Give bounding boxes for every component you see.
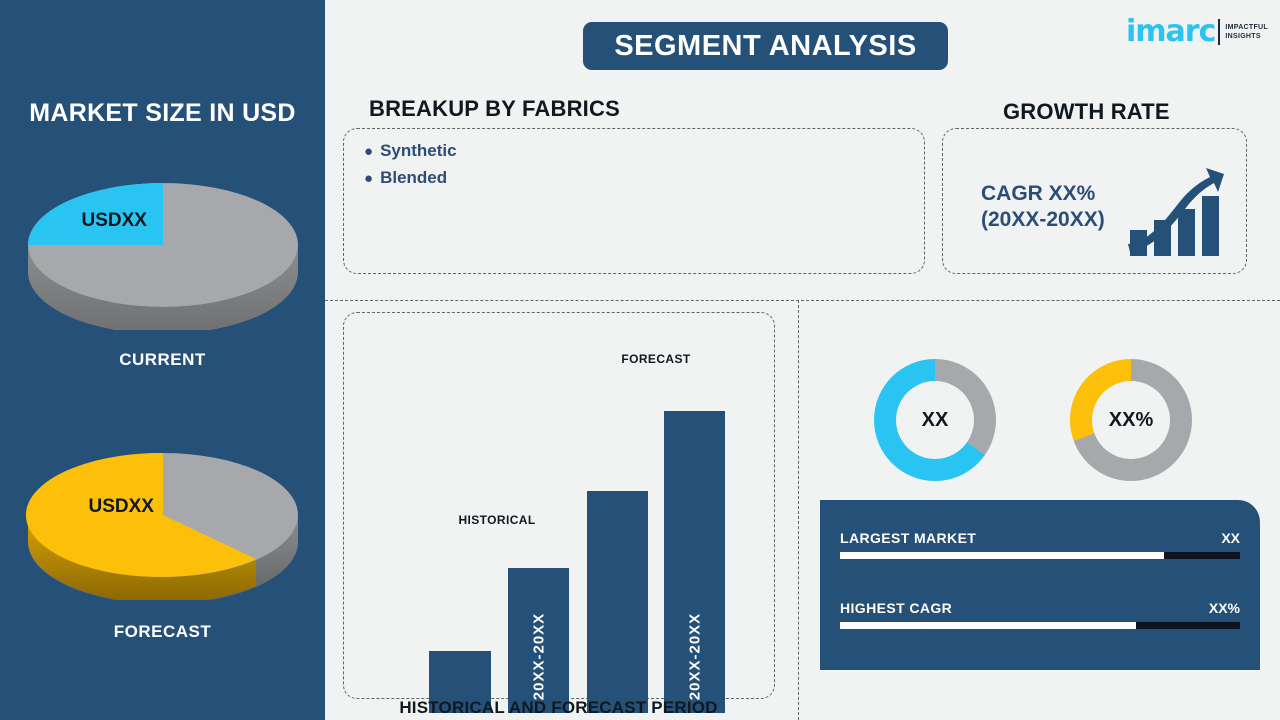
growth-box: CAGR XX% (20XX-20XX) <box>942 128 1247 274</box>
bar-annotation-historical: HISTORICAL <box>457 513 537 527</box>
fabrics-box: ● Synthetic ● Blended <box>343 128 925 274</box>
bar-4: 20XX-20XX <box>664 411 725 713</box>
stat-progress-track <box>840 552 1240 559</box>
bullet-icon: ● <box>364 171 373 186</box>
stat-value: XX% <box>1209 600 1240 616</box>
fabric-label: Synthetic <box>380 141 457 161</box>
stat-progress-track <box>840 622 1240 629</box>
bar-4-label: 20XX-20XX <box>686 613 703 700</box>
horizontal-divider <box>325 300 1280 301</box>
stat-label: LARGEST MARKET <box>840 530 976 546</box>
bar-2-label: 20XX-20XX <box>530 613 547 700</box>
pie-current-svg <box>18 160 308 330</box>
donut-chart-largest-share: XX <box>874 359 996 481</box>
pie-current-caption: CURRENT <box>0 350 325 370</box>
donut-1-center: XX <box>896 381 974 459</box>
page-title-banner: SEGMENT ANALYSIS <box>583 22 948 70</box>
cagr-value: CAGR XX% <box>981 181 1105 207</box>
growth-heading: GROWTH RATE <box>1003 99 1170 125</box>
logo-tagline-line1: IMPACTFUL <box>1225 23 1268 32</box>
bullet-icon: ● <box>364 144 373 159</box>
page-title: SEGMENT ANALYSIS <box>614 30 916 63</box>
donut-chart-highest-cagr: XX% <box>1070 359 1192 481</box>
pie-forecast-svg <box>18 430 308 600</box>
donut-2-center: XX% <box>1092 381 1170 459</box>
bar-3 <box>587 491 648 713</box>
cagr-text: CAGR XX% (20XX-20XX) <box>981 181 1105 234</box>
sidebar-title: MARKET SIZE IN USD <box>0 99 325 128</box>
logo-divider <box>1218 19 1220 45</box>
list-item: ● Synthetic <box>364 141 457 161</box>
logo-tagline-line2: INSIGHTS <box>1225 32 1268 41</box>
pie-chart-current: USDXX <box>18 160 308 330</box>
stat-label: HIGHEST CAGR <box>840 600 952 616</box>
fabrics-list: ● Synthetic ● Blended <box>364 141 457 195</box>
infographic-root: MARKET SIZE IN USD USDXX <box>0 0 1280 720</box>
bar-annotation-forecast: FORECAST <box>611 352 701 366</box>
market-size-current-block: USDXX CURRENT <box>0 160 325 330</box>
stat-progress-fill <box>840 552 1164 559</box>
bar-chart: HISTORICAL FORECAST 20XX-20XX 20XX-20XX <box>364 328 789 713</box>
imarc-logo: imarc IMPACTFUL INSIGHTS <box>1126 10 1268 54</box>
market-size-forecast-block: USDXX FORECAST <box>0 430 325 600</box>
list-item: ● Blended <box>364 168 457 188</box>
pie-forecast-caption: FORECAST <box>0 622 325 642</box>
donut-2-value: XX% <box>1109 409 1153 432</box>
vertical-divider <box>798 300 799 720</box>
stat-progress-fill <box>840 622 1136 629</box>
stat-value: XX <box>1221 530 1240 546</box>
fabric-label: Blended <box>380 168 447 188</box>
stats-card: LARGEST MARKET XX HIGHEST CAGR XX% <box>820 500 1260 670</box>
growth-arrow-chart-icon <box>1126 164 1226 259</box>
pie-chart-forecast: USDXX <box>18 430 308 600</box>
donut-1-value: XX <box>922 409 949 432</box>
fabrics-heading: BREAKUP BY FABRICS <box>369 96 620 122</box>
sidebar: MARKET SIZE IN USD USDXX <box>0 0 325 720</box>
main-panel: SEGMENT ANALYSIS imarc IMPACTFUL INSIGHT… <box>325 0 1280 720</box>
logo-tagline: IMPACTFUL INSIGHTS <box>1225 23 1268 42</box>
period-bar-chart-box: HISTORICAL FORECAST 20XX-20XX 20XX-20XX … <box>343 312 775 699</box>
cagr-period: (20XX-20XX) <box>981 207 1105 233</box>
bar-2: 20XX-20XX <box>508 568 569 713</box>
bar-chart-caption: HISTORICAL AND FORECAST PERIOD <box>346 698 771 718</box>
logo-wordmark: imarc <box>1126 17 1215 47</box>
